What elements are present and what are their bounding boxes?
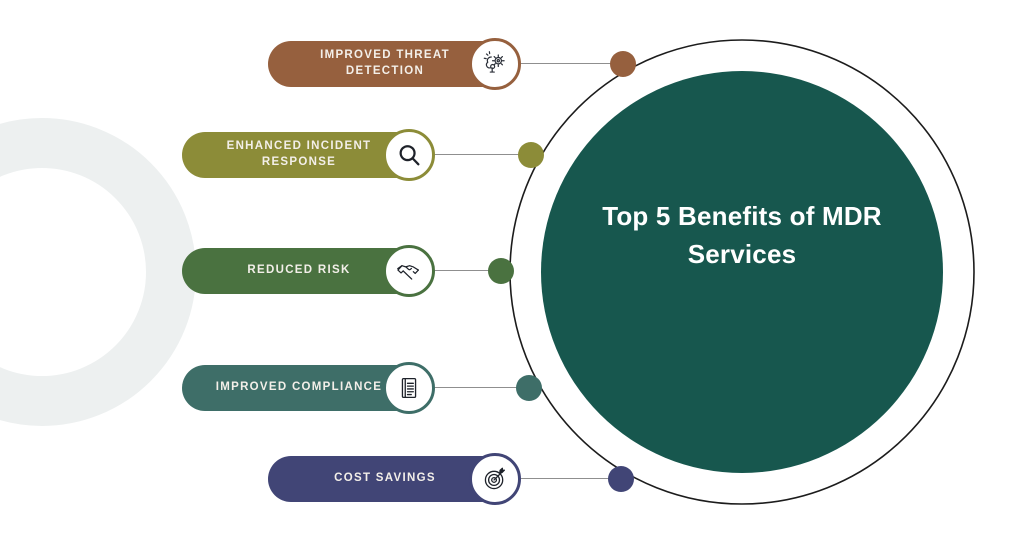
benefit-badge-2: [383, 129, 435, 181]
connector-line-1: [505, 63, 623, 64]
benefit-badge-3: [383, 245, 435, 297]
connector-line-5: [505, 478, 623, 479]
handshake-icon: [394, 256, 424, 286]
hub-title: Top 5 Benefits of MDR Services: [572, 198, 912, 273]
brain-gears-icon: [480, 49, 510, 79]
magnifier-icon: [394, 140, 424, 170]
node-dot-4[interactable]: [516, 375, 542, 401]
infographic-canvas: Top 5 Benefits of MDR Services IMPROVED …: [0, 0, 1024, 536]
connector-line-2: [418, 154, 532, 155]
node-dot-1[interactable]: [610, 51, 636, 77]
benefit-pill-improved-threat-detection[interactable]: IMPROVED THREAT DETECTION: [268, 41, 518, 87]
benefit-badge-5: [469, 453, 521, 505]
hub-title-line2: Services: [572, 236, 912, 274]
node-dot-5[interactable]: [608, 466, 634, 492]
benefit-label-1-line2: DETECTION: [346, 65, 424, 77]
benefit-badge-4: [383, 362, 435, 414]
node-dot-2[interactable]: [518, 142, 544, 168]
benefit-label-1-line1: IMPROVED THREAT: [320, 49, 450, 61]
node-dot-3[interactable]: [488, 258, 514, 284]
benefit-pill-enhanced-incident-response[interactable]: ENHANCED INCIDENT RESPONSE: [182, 132, 432, 178]
target-icon: [480, 464, 510, 494]
benefit-label-2-line1: ENHANCED INCIDENT: [227, 140, 372, 152]
benefit-badge-1: [469, 38, 521, 90]
benefit-pill-reduced-risk[interactable]: REDUCED RISK: [182, 248, 432, 294]
benefit-pill-improved-compliance[interactable]: IMPROVED COMPLIANCE: [182, 365, 432, 411]
hub-title-line1: Top 5 Benefits of MDR: [572, 198, 912, 236]
checklist-icon: [394, 373, 424, 403]
benefit-pill-cost-savings[interactable]: COST SAVINGS: [268, 456, 518, 502]
benefit-label-2-line2: RESPONSE: [262, 156, 336, 168]
